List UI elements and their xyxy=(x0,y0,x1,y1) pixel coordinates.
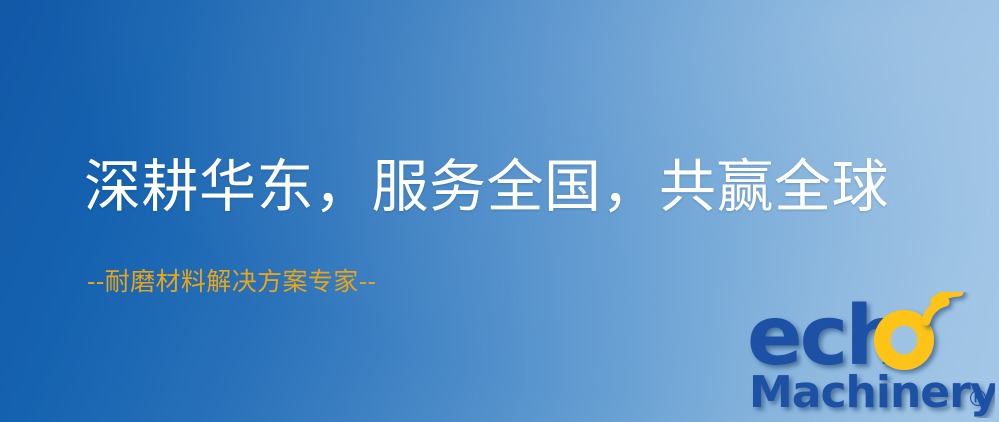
banner-headline: 深耕华东，服务全国，共赢全球 xyxy=(84,158,889,218)
svg-text:®: ® xyxy=(967,387,989,412)
svg-text:Machinery: Machinery xyxy=(749,367,995,418)
logo-signal-arcs-icon xyxy=(926,292,959,321)
logo-tagline-machinery-icon: Machinery ® xyxy=(749,367,995,418)
hero-banner: 深耕华东，服务全国，共赢全球 --耐磨材料解决方案专家-- ech xyxy=(0,0,999,422)
echo-machinery-logo[interactable]: ech Machinery ® xyxy=(745,292,995,418)
banner-subheadline: --耐磨材料解决方案专家-- xyxy=(87,268,376,296)
